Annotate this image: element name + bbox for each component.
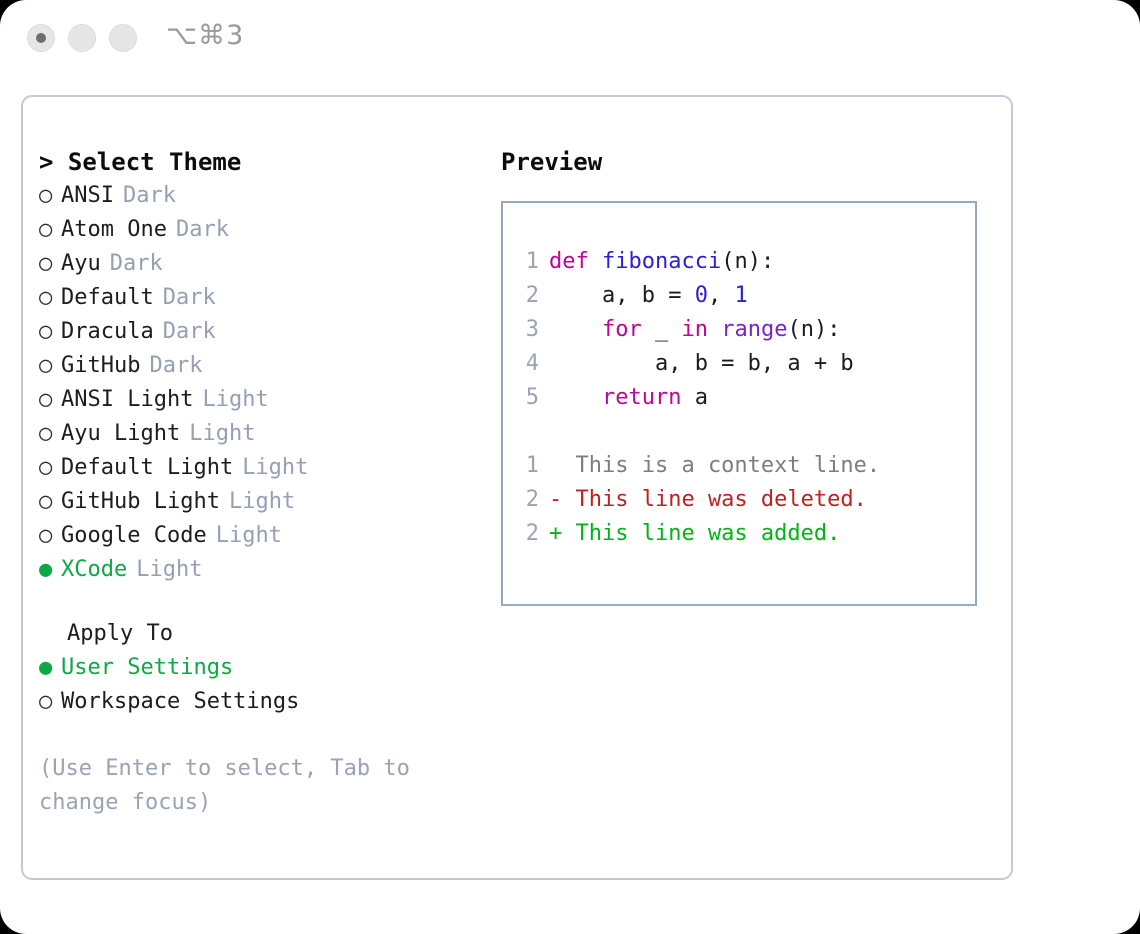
- window-dot-active[interactable]: [27, 24, 55, 52]
- code-token-plain: [549, 385, 602, 410]
- radio-unselected-icon: ○: [39, 383, 61, 417]
- theme-option-dracula[interactable]: ○DraculaDark: [39, 315, 479, 349]
- apply-to-option-user-settings[interactable]: ●User Settings: [39, 651, 479, 685]
- apply-to-option-workspace-settings[interactable]: ○Workspace Settings: [39, 685, 479, 719]
- preview-heading: Preview: [501, 145, 991, 179]
- theme-option-label: Atom One: [61, 213, 167, 247]
- theme-option-label: GitHub: [61, 349, 140, 383]
- code-token-kw: for: [602, 317, 642, 342]
- code-line-number: 2: [503, 279, 549, 313]
- theme-selector-column: > Select Theme ○ANSIDark○Atom OneDark○Ay…: [39, 145, 479, 820]
- code-line-content: def fibonacci(n):: [549, 245, 774, 279]
- app-window: ⌥⌘3 > Select Theme ○ANSIDark○Atom OneDar…: [0, 0, 1140, 934]
- theme-option-label: Ayu Light: [61, 417, 180, 451]
- code-line: 3 for _ in range(n):: [503, 313, 975, 347]
- theme-option-ansi-light[interactable]: ○ANSI LightLight: [39, 383, 479, 417]
- window-dot-active-inner: [36, 33, 46, 43]
- code-line-content: a, b = b, a + b: [549, 347, 854, 381]
- theme-option-github-light[interactable]: ○GitHub LightLight: [39, 485, 479, 519]
- theme-option-google-code[interactable]: ○Google CodeLight: [39, 519, 479, 553]
- keyboard-hint-text: (Use Enter to select, Tab to change focu…: [39, 752, 439, 820]
- keyboard-shortcut-label: ⌥⌘3: [166, 20, 244, 51]
- select-theme-heading: > Select Theme: [39, 145, 479, 179]
- code-token-plain: a: [681, 385, 708, 410]
- code-token-plain: (n):: [787, 317, 840, 342]
- theme-option-xcode[interactable]: ●XCodeLight: [39, 553, 479, 587]
- diff-line-number: 1: [503, 449, 549, 483]
- theme-option-kind-badge: Light: [202, 383, 268, 417]
- theme-option-label: Dracula: [61, 315, 154, 349]
- code-token-num: 0: [695, 283, 708, 308]
- theme-option-label: Default: [61, 281, 154, 315]
- code-token-plain: (n):: [721, 249, 774, 274]
- main-panel: > Select Theme ○ANSIDark○Atom OneDark○Ay…: [21, 95, 1013, 880]
- diff-line-content: + This line was added.: [549, 517, 840, 551]
- apply-to-option-label: Workspace Settings: [61, 685, 299, 719]
- window-dot-second[interactable]: [68, 24, 96, 52]
- code-line-number: 4: [503, 347, 549, 381]
- code-token-plain: a, b = b, a + b: [549, 351, 854, 376]
- radio-unselected-icon: ○: [39, 349, 61, 383]
- code-sample: 1def fibonacci(n):2 a, b = 0, 13 for _ i…: [503, 245, 975, 415]
- radio-unselected-icon: ○: [39, 417, 61, 451]
- theme-option-kind-badge: Dark: [163, 315, 216, 349]
- code-token-num: 1: [734, 283, 747, 308]
- code-token-plain: a, b =: [549, 283, 695, 308]
- code-token-kw: def: [549, 249, 589, 274]
- code-line: 2 a, b = 0, 1: [503, 279, 975, 313]
- radio-unselected-icon: ○: [39, 281, 61, 315]
- radio-selected-icon: ●: [39, 651, 61, 685]
- radio-unselected-icon: ○: [39, 685, 61, 719]
- code-token-kw: return: [602, 385, 681, 410]
- diff-line-content: - This line was deleted.: [549, 483, 867, 517]
- theme-option-label: ANSI Light: [61, 383, 193, 417]
- theme-option-label: XCode: [61, 553, 127, 587]
- code-token-fn: fibonacci: [602, 249, 721, 274]
- radio-unselected-icon: ○: [39, 485, 61, 519]
- code-line: 5 return a: [503, 381, 975, 415]
- preview-column: Preview 1def fibonacci(n):2 a, b = 0, 13…: [501, 145, 991, 606]
- theme-option-kind-badge: Dark: [110, 247, 163, 281]
- apply-to-options: ●User Settings○Workspace Settings: [39, 651, 479, 719]
- theme-option-ayu-light[interactable]: ○Ayu LightLight: [39, 417, 479, 451]
- theme-option-default[interactable]: ○DefaultDark: [39, 281, 479, 315]
- diff-line-content: This is a context line.: [549, 449, 880, 483]
- diff-line: 1 This is a context line.: [503, 449, 975, 483]
- theme-option-label: ANSI: [61, 179, 114, 213]
- code-token-kw: in: [681, 317, 708, 342]
- theme-option-kind-badge: Light: [242, 451, 308, 485]
- title-bar: ⌥⌘3: [0, 0, 1140, 82]
- code-token-plain: [589, 249, 602, 274]
- code-token-plain: ,: [708, 283, 735, 308]
- apply-to-heading: Apply To: [39, 617, 479, 651]
- code-token-bi: range: [721, 317, 787, 342]
- theme-list: ○ANSIDark○Atom OneDark○AyuDark○DefaultDa…: [39, 179, 479, 587]
- preview-spacer: [503, 415, 975, 449]
- preview-panel: 1def fibonacci(n):2 a, b = 0, 13 for _ i…: [501, 201, 977, 606]
- code-line-content: a, b = 0, 1: [549, 279, 748, 313]
- radio-unselected-icon: ○: [39, 213, 61, 247]
- theme-option-default-light[interactable]: ○Default LightLight: [39, 451, 479, 485]
- theme-option-kind-badge: Dark: [176, 213, 229, 247]
- diff-line-number: 2: [503, 483, 549, 517]
- radio-unselected-icon: ○: [39, 179, 61, 213]
- code-line-number: 3: [503, 313, 549, 347]
- code-line-number: 1: [503, 245, 549, 279]
- window-controls: [27, 24, 137, 52]
- code-line-content: return a: [549, 381, 708, 415]
- theme-option-label: Google Code: [61, 519, 207, 553]
- radio-unselected-icon: ○: [39, 451, 61, 485]
- apply-to-option-label: User Settings: [61, 651, 233, 685]
- radio-selected-icon: ●: [39, 553, 61, 587]
- apply-to-section: Apply To ●User Settings○Workspace Settin…: [39, 617, 479, 719]
- theme-option-kind-badge: Light: [189, 417, 255, 451]
- code-line: 1def fibonacci(n):: [503, 245, 975, 279]
- theme-option-kind-badge: Light: [136, 553, 202, 587]
- code-token-plain: _: [642, 317, 682, 342]
- theme-option-label: GitHub Light: [61, 485, 220, 519]
- diff-line: 2- This line was deleted.: [503, 483, 975, 517]
- theme-option-kind-badge: Dark: [149, 349, 202, 383]
- code-line-number: 5: [503, 381, 549, 415]
- theme-option-kind-badge: Light: [229, 485, 295, 519]
- theme-option-label: Default Light: [61, 451, 233, 485]
- radio-unselected-icon: ○: [39, 315, 61, 349]
- theme-option-label: Ayu: [61, 247, 101, 281]
- theme-option-github[interactable]: ○GitHubDark: [39, 349, 479, 383]
- window-dot-third[interactable]: [109, 24, 137, 52]
- theme-option-ayu[interactable]: ○AyuDark: [39, 247, 479, 281]
- diff-line-number: 2: [503, 517, 549, 551]
- diff-line: 2+ This line was added.: [503, 517, 975, 551]
- code-line: 4 a, b = b, a + b: [503, 347, 975, 381]
- theme-option-kind-badge: Light: [216, 519, 282, 553]
- radio-unselected-icon: ○: [39, 519, 61, 553]
- theme-option-ansi[interactable]: ○ANSIDark: [39, 179, 479, 213]
- theme-option-kind-badge: Dark: [163, 281, 216, 315]
- code-token-plain: [549, 317, 602, 342]
- code-line-content: for _ in range(n):: [549, 313, 840, 347]
- radio-unselected-icon: ○: [39, 247, 61, 281]
- theme-option-atom-one[interactable]: ○Atom OneDark: [39, 213, 479, 247]
- theme-option-kind-badge: Dark: [123, 179, 176, 213]
- diff-sample: 1 This is a context line.2- This line wa…: [503, 449, 975, 551]
- code-token-plain: [708, 317, 721, 342]
